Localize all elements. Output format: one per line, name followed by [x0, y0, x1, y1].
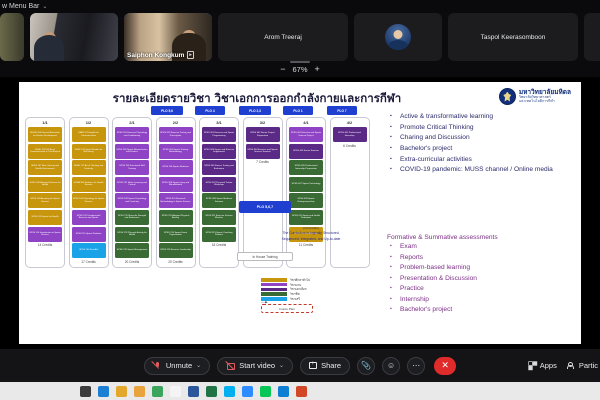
column-credits: 7 Credits — [246, 160, 280, 164]
semester-column: 4/1SPSS 401 Exercise and Sports Science … — [286, 117, 326, 268]
course-box: SPSS 202 Exercise Testing and Prescripti… — [159, 127, 193, 142]
camera-off-icon — [226, 361, 235, 370]
course-box: SPSS 207 Motor Learning and Control — [115, 177, 149, 192]
university-logo: มหาวิทยาลัยมหิดล วิทยาลัยวิทยาศาสตร์ และ… — [499, 88, 571, 105]
legend-swatch — [261, 278, 287, 282]
course-box: SPSS 105 Sports for Health — [28, 210, 62, 225]
column-credits: 11 Credits — [289, 243, 323, 247]
notes-icon[interactable] — [134, 386, 145, 397]
microphone-muted-icon — [153, 361, 162, 370]
course-box: SPSS 405 Professional Internship Prepara… — [289, 160, 323, 175]
assessment-item: Problem-based learning — [387, 263, 575, 274]
course-box: SPSS 311 Exercise Science Elective — [202, 210, 236, 225]
course-box: SPSS 104 Physiology for Sports Science — [72, 193, 106, 208]
task-view-icon[interactable] — [80, 386, 91, 397]
unmute-label: Unmute — [166, 361, 192, 370]
participant-tile[interactable] — [0, 13, 24, 61]
zoom-in-button[interactable]: + — [315, 65, 320, 74]
column-credits: 20 Credits — [159, 260, 193, 264]
semester-header: 1/2 — [72, 120, 106, 125]
people-icon — [567, 362, 576, 370]
participant-tile-active[interactable]: Saiphon Kongkum ▸ — [124, 13, 212, 61]
semester-header: 3/2 — [246, 120, 280, 125]
future-plan-box: Future Plan — [261, 304, 313, 313]
course-box: SHHU 111/112 Art of Communication in Tha… — [28, 144, 62, 159]
course-box: SPSS 303 Sports and Exercise Supplement — [202, 144, 236, 159]
teaching-method-item: Charing and Discussion — [387, 133, 575, 144]
semester-column: 3/2SPSS 302 Senior Project PreparationSP… — [243, 117, 283, 268]
apps-button[interactable]: Apps — [529, 361, 557, 370]
share-screen-icon — [309, 362, 317, 369]
skype-icon[interactable] — [224, 386, 235, 397]
course-box: SPSS 203 Sports Biomechanics and Kinetic… — [115, 144, 149, 159]
course-box: SPSS 130 First Aid — [72, 243, 106, 258]
menu-bar[interactable]: w Menu Bar ⌄ — [0, 0, 600, 13]
course-box: SPSS 407 Sports Technology — [289, 177, 323, 192]
course-box: SPSS 411 Sports and Health Promotion — [289, 210, 323, 225]
legend-swatches — [261, 278, 287, 302]
semester-column: 4/2SPSS 402 Professional Internship6 Cre… — [330, 117, 370, 268]
participant-name: Saiphon Kongkum — [127, 52, 184, 59]
smiley-icon: ☺ — [387, 361, 395, 370]
course-box: SPSS 403 Senior Seminar — [289, 144, 323, 159]
semester-header: 2/2 — [159, 120, 193, 125]
participant-tile[interactable] — [354, 13, 442, 61]
semester-header: 3/1 — [202, 120, 236, 125]
participant-tile[interactable] — [584, 13, 600, 61]
course-box: SPSS 213 Physical Activity for Health — [115, 227, 149, 242]
course-box: SHSS 107 Man, Society and Health Environ… — [28, 160, 62, 175]
chevron-down-icon[interactable]: ⌄ — [42, 3, 47, 10]
course-box: SPSS 211 Muscular Strength and Endurance — [115, 210, 149, 225]
curriculum-flowchart: PLO 5,6 PLO 4 PLO 2,3 PLO 1 PLO 7 1/1MUG… — [25, 106, 381, 338]
start-video-button[interactable]: Start video ⌄ — [217, 357, 293, 375]
powerpoint-icon[interactable] — [296, 386, 307, 397]
teaching-method-item: Active & transformative learning — [387, 112, 575, 123]
assessment-item: Bachelor's project — [387, 305, 575, 316]
course-box: SPSS 409 Sports Entrepreneurship — [289, 193, 323, 208]
plo-badge-row: PLO 5,6 PLO 4 PLO 2,3 PLO 1 PLO 7 — [25, 106, 381, 117]
legend-label: วิชาเสรี — [290, 297, 310, 302]
chevron-down-icon[interactable]: ⌄ — [279, 362, 284, 369]
column-credits: 17 Credits — [72, 260, 106, 264]
windows-taskbar[interactable] — [0, 382, 600, 400]
course-box: SHHU 127 Art of Thinking and Creativity — [72, 160, 106, 175]
assessment-item: Reports — [387, 253, 575, 264]
ellipsis-icon: ⋯ — [412, 361, 420, 370]
column-credits: 18 Credits — [202, 243, 236, 247]
legend-swatch — [261, 283, 287, 287]
course-box: MUGE 100 General Education for Human Dev… — [28, 127, 62, 142]
teaching-methods-list: Active & transformative learningPromote … — [387, 112, 575, 176]
zoom-level-control[interactable]: − 67% + — [0, 61, 600, 77]
paperclip-icon: 📎 — [361, 361, 371, 370]
calendar-icon[interactable] — [170, 386, 181, 397]
assessments-list: ExamReportsProblem-based learningPresent… — [387, 242, 575, 316]
assessment-item: Presentation & Discussion — [387, 274, 575, 285]
course-box: SPSS 209 Sports Psychology and Coaching — [115, 193, 149, 208]
course-box: SPSS 307 Personal Trainer Workshop — [202, 177, 236, 192]
plo-badge: PLO 5,6 — [151, 106, 183, 115]
legend-swatch — [261, 288, 287, 292]
semester-column: 3/1SPSS 301 Exercise and Sports Programm… — [199, 117, 239, 268]
file-explorer-icon[interactable] — [116, 386, 127, 397]
participant-name: Taspol Keerasomboon — [448, 13, 578, 61]
assessment-item: Internship — [387, 295, 575, 306]
course-box: SCBI 109 Biological Science for Health — [28, 177, 62, 192]
curriculum-note-line2: Sequenced, Integrated, and Up-to-date — [261, 237, 361, 243]
course-box: SPSS 110 Introduction to Sports Science — [28, 227, 62, 242]
course-box: LAEN 117 English for Communication — [72, 127, 106, 142]
teaching-method-item: Promote Critical Thinking — [387, 123, 575, 134]
course-box: SPSS 212 Adapted Physical Activity — [159, 210, 193, 225]
toolbar-right-group: Apps Partic — [529, 349, 598, 382]
teaching-methods-panel: Active & transformative learningPromote … — [387, 112, 575, 176]
teaching-method-item: Bachelor's project — [387, 144, 575, 155]
department-name: และเทคโนโลยีการกีฬา — [519, 100, 571, 104]
course-box: SPSS 304 Exercise and Sports Science Sem… — [246, 144, 280, 159]
word-icon[interactable] — [188, 386, 199, 397]
line-icon[interactable] — [260, 386, 271, 397]
in-house-training-box: In House Training — [237, 252, 293, 261]
course-box: SHSS 125 Social Studies for Well being — [72, 144, 106, 159]
zoom-level-value: 67% — [292, 65, 307, 74]
edge-icon[interactable] — [278, 386, 289, 397]
participants-label: Partic — [579, 361, 598, 370]
course-box: SPSS 205 Functional Skill Training — [115, 160, 149, 175]
course-box: SPSS 402 Professional Internship — [333, 127, 367, 142]
share-button[interactable]: Share — [300, 357, 350, 375]
participants-button[interactable]: Partic — [567, 361, 598, 370]
meeting-toolbar: Unmute ⌄ Start video ⌄ Share 📎 ☺ ⋯ ✕ — [0, 349, 600, 382]
zoom-meeting-window: w Menu Bar ⌄ Saiphon Kongkum ▸ Arom Tree… — [0, 0, 600, 400]
column-credits: 6 Credits — [333, 144, 367, 148]
share-label: Share — [321, 361, 341, 370]
semester-columns: 1/1MUGE 100 General Education for Human … — [25, 117, 370, 268]
excel-icon[interactable] — [206, 386, 217, 397]
course-box: SPSS 214 Sports Event Organization — [159, 227, 193, 242]
participant-tile[interactable] — [30, 13, 118, 61]
video-feed — [0, 13, 24, 61]
plo-badge: PLO 7 — [327, 106, 357, 115]
drag-handle[interactable] — [290, 61, 310, 63]
zoom-icon[interactable] — [242, 386, 253, 397]
semester-column: 1/1MUGE 100 General Education for Human … — [25, 117, 65, 268]
plo-badge: PLO 2,3 — [239, 106, 271, 115]
more-options-button[interactable]: ⋯ — [407, 357, 425, 375]
apps-label: Apps — [540, 361, 557, 370]
course-box: SPSS 210 Research Methodology in Sports … — [159, 193, 193, 208]
plo-badge: PLO 4 — [195, 106, 225, 115]
course-box: SPSS 313 Sports Coaching Practice — [202, 227, 236, 242]
video-feed — [30, 13, 118, 61]
curriculum-note: (14 Credits) The Curriculum is logically… — [261, 226, 361, 243]
course-box: SPSS 309 Sports Medicine Seminar — [202, 193, 236, 208]
shared-screen-stage: รายละเอียดรายวิชา วิชาเอกการออกกำลังกายแ… — [0, 77, 600, 349]
teaching-method-item: Extra-curricular activities — [387, 155, 575, 166]
assessment-item: Exam — [387, 242, 575, 253]
attachment-button[interactable]: 📎 — [357, 357, 375, 375]
semester-column: 2/2SPSS 202 Exercise Testing and Prescri… — [156, 117, 196, 268]
avatar — [385, 24, 411, 50]
reactions-button[interactable]: ☺ — [382, 357, 400, 375]
course-box: SPSS 216 Exercise Leadership — [159, 243, 193, 258]
unmute-button[interactable]: Unmute ⌄ — [144, 357, 210, 375]
semester-header: 4/2 — [333, 120, 367, 125]
course-box: SPSS 302 Senior Project Preparation — [246, 127, 280, 142]
presentation-slide: รายละเอียดรายวิชา วิชาเอกการออกกำลังกายแ… — [19, 82, 581, 344]
participant-tile[interactable]: Taspol Keerasomboon — [448, 13, 578, 61]
chrome-icon[interactable] — [152, 386, 163, 397]
course-box: SPSS 301 Exercise and Sports Programming — [202, 127, 236, 142]
course-box: SPSS 120 Fundamental Exercise and Sports — [72, 210, 106, 225]
plo-badge: PLO 1 — [283, 106, 313, 115]
course-box: SPSS 115 Sports Nutrition — [72, 227, 106, 242]
semester-column: 2/1SPSS 201 Exercise Physiology and Cond… — [112, 117, 152, 268]
course-box: SCMA 180 Statistics for Health Science — [72, 177, 106, 192]
close-icon: ✕ — [441, 360, 449, 371]
course-box: SPSS 305 Fitness Testing and Evaluation — [202, 160, 236, 175]
legend-swatch — [261, 292, 287, 296]
apps-grid-icon — [529, 362, 537, 370]
plo-center-badge: PLO 5,6,7 — [239, 201, 291, 213]
assessments-heading: Formative & Summative assessments — [387, 234, 575, 241]
zoom-out-button[interactable]: − — [280, 65, 285, 74]
legend-label: วิชาศึกษาทั่วไป — [290, 278, 310, 283]
participant-filmstrip[interactable]: Saiphon Kongkum ▸ Arom Treeraj Taspol Ke… — [0, 13, 600, 61]
assessments-panel: Formative & Summative assessments ExamRe… — [387, 234, 575, 316]
course-box: SPSS 201 Exercise Physiology and Conditi… — [115, 127, 149, 142]
assessment-item: Practice — [387, 284, 575, 295]
chart-legend: วิชาศึกษาทั่วไปวิชาแกนวิชาเอกเลือกวิชาชี… — [261, 278, 310, 302]
mahidol-seal-icon — [499, 88, 516, 105]
start-video-label: Start video — [239, 361, 275, 370]
mail-icon[interactable] — [98, 386, 109, 397]
end-call-button[interactable]: ✕ — [434, 357, 456, 375]
course-box: SPSS 215 Sports Management — [115, 243, 149, 258]
participant-name: Arom Treeraj — [218, 13, 348, 61]
course-box: SPSS 206 Sports Medicine — [159, 160, 193, 175]
course-box: SPSS 204 Sports Training Methodology — [159, 144, 193, 159]
chevron-down-icon[interactable]: ⌄ — [196, 362, 201, 369]
video-badge-icon: ▸ — [187, 51, 194, 59]
semester-header: 1/1 — [28, 120, 62, 125]
participant-name-tag: Saiphon Kongkum ▸ — [127, 51, 194, 59]
semester-header: 2/1 — [115, 120, 149, 125]
legend-labels: วิชาศึกษาทั่วไปวิชาแกนวิชาเอกเลือกวิชาชี… — [290, 278, 310, 302]
semester-header: 4/1 — [289, 120, 323, 125]
course-box: SPSS 208 Sports Injury and Rehabilitatio… — [159, 177, 193, 192]
menu-bar-label: w Menu Bar — [2, 3, 39, 10]
column-credits: 20 Credits — [115, 260, 149, 264]
column-credits: 14 Credits — [28, 243, 62, 247]
course-box: SPSS 103 Anatomy for Sports Science — [28, 193, 62, 208]
semester-column: 1/2LAEN 117 English for CommunicationSHS… — [69, 117, 109, 268]
participant-tile[interactable]: Arom Treeraj — [218, 13, 348, 61]
course-box: SPSS 401 Exercise and Sports Science Pro… — [289, 127, 323, 142]
teaching-method-item: COVID-19 pandemic: MUSS channel / Online… — [387, 165, 575, 176]
